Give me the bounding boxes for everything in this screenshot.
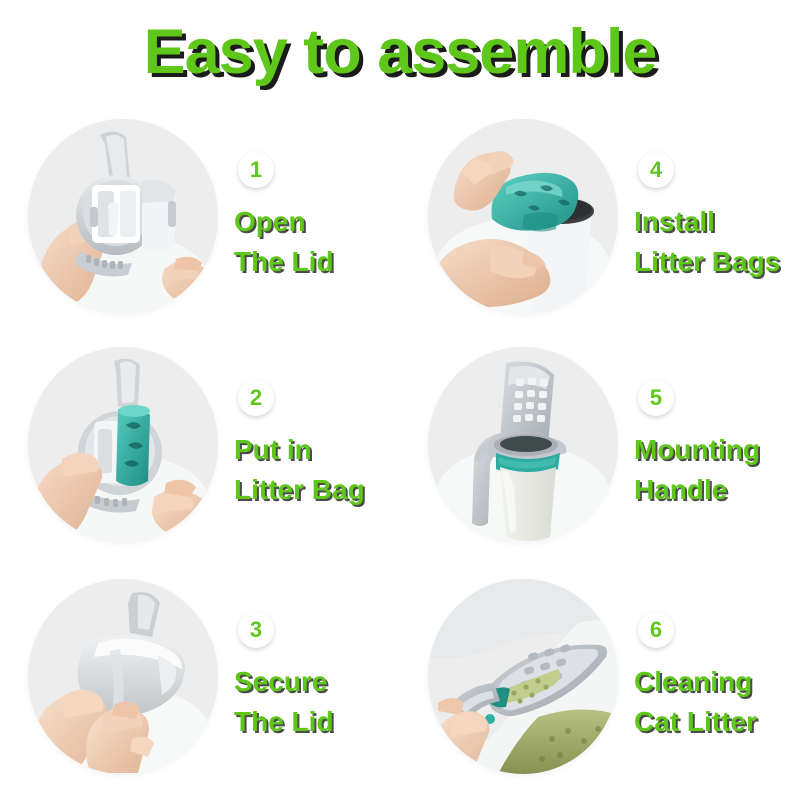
step-label-6: Cleaning Cat Litter [634,662,794,742]
step-number-badge-3: 3 [238,612,274,648]
step-number-badge-1: 1 [238,152,274,188]
step-label-line1-3: Secure [234,666,327,697]
step-item-2: 2 Put in Litter Bag [0,328,400,561]
step-text-6: 6 Cleaning Cat Litter [618,612,800,742]
step-item-4: 4 Install Litter Bags [400,100,800,333]
step-label-2: Put in Litter Bag [234,430,394,510]
step-item-6: 6 Cleaning Cat Litter [400,560,800,793]
illustration-install-litter-bags [428,119,618,314]
illustration-open-the-lid [28,119,218,314]
illustration-mounting-handle [428,347,618,542]
photo-open-the-lid [28,119,218,314]
step-label-4: Install Litter Bags [634,202,794,282]
step-label-line2-6: Cat Litter [634,702,794,742]
step-item-5: 5 Mounting Handle [400,328,800,561]
photo-secure-the-lid [28,579,218,774]
step-label-line2-5: Handle [634,470,794,510]
step-text-1: 1 Open The Lid [218,152,400,282]
step-text-5: 5 Mounting Handle [618,380,800,510]
step-number-badge-6: 6 [638,612,674,648]
photo-mounting-handle [428,347,618,542]
page-title: Easy to assemble [144,21,657,84]
step-item-3: 3 Secure The Lid [0,560,400,793]
step-label-line1-6: Cleaning [634,666,752,697]
step-label-line2-3: The Lid [234,702,394,742]
step-label-line2-4: Litter Bags [634,242,794,282]
illustration-put-in-litter-bag [28,347,218,542]
step-number-badge-5: 5 [638,380,674,416]
step-label-line1-2: Put in [234,434,312,465]
step-label-1: Open The Lid [234,202,394,282]
step-number-badge-4: 4 [638,152,674,188]
step-text-2: 2 Put in Litter Bag [218,380,400,510]
step-label-3: Secure The Lid [234,662,394,742]
step-number-badge-2: 2 [238,380,274,416]
step-label-line1-1: Open [234,206,306,237]
step-item-1: 1 Open The Lid [0,100,400,333]
step-label-line1-4: Install [634,206,715,237]
step-text-3: 3 Secure The Lid [218,612,400,742]
step-label-line2-1: The Lid [234,242,394,282]
step-label-5: Mounting Handle [634,430,794,510]
photo-put-in-litter-bag [28,347,218,542]
step-text-4: 4 Install Litter Bags [618,152,800,282]
illustration-secure-the-lid [28,579,218,774]
step-label-line2-2: Litter Bag [234,470,394,510]
photo-install-litter-bags [428,119,618,314]
photo-cleaning-cat-litter [428,579,618,774]
illustration-cleaning-cat-litter [428,579,618,774]
steps-grid: 1 Open The Lid [0,100,800,800]
step-label-line1-5: Mounting [634,434,760,465]
header: Easy to assemble [0,0,800,100]
